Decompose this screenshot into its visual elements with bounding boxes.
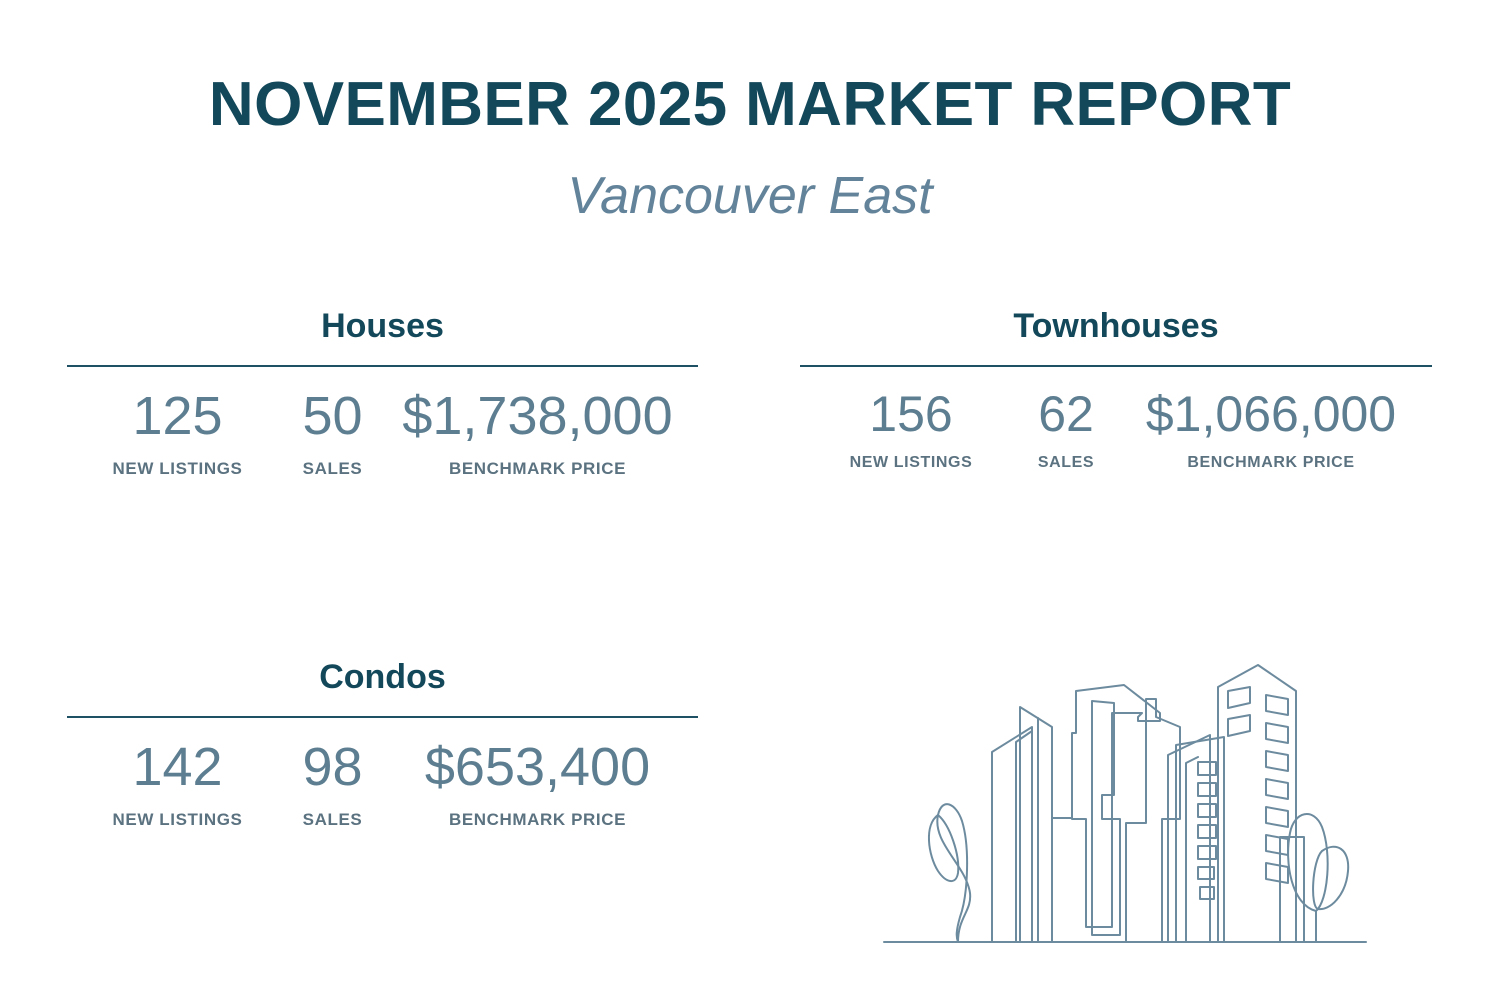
section-heading-townhouses: Townhouses (800, 306, 1432, 347)
metric-value-new-listings: 156 (869, 385, 952, 444)
building-b-outline (1020, 707, 1052, 942)
metric-value-benchmark-price: $1,738,000 (402, 385, 672, 449)
building-d-outline (1092, 701, 1120, 935)
building-h-windows-right (1266, 695, 1288, 883)
metric-value-benchmark-price: $653,400 (425, 736, 650, 800)
metric-label-benchmark-price: BENCHMARK PRICE (1187, 454, 1354, 472)
metric-value-sales: 98 (302, 736, 362, 800)
page-subtitle: Vancouver East (0, 168, 1500, 225)
building-g-windows (1198, 762, 1216, 899)
metric-label-benchmark-price: BENCHMARK PRICE (449, 810, 626, 830)
metric-sales: 50 SALES (278, 385, 388, 479)
building-i-outline (1280, 837, 1304, 942)
tree-right-leaf-large (1288, 814, 1328, 942)
metrics-row-houses: 125 NEW LISTINGS 50 SALES $1,738,000 BEN… (67, 385, 698, 479)
metric-new-listings: 156 NEW LISTINGS (811, 385, 1011, 472)
metric-label-new-listings: NEW LISTINGS (850, 454, 973, 472)
section-condos: Condos 142 NEW LISTINGS 98 SALES $653,40… (67, 657, 698, 830)
metric-new-listings: 142 NEW LISTINGS (78, 736, 278, 830)
tree-right-leaf-small (1313, 847, 1348, 909)
building-a-edge (1016, 731, 1032, 942)
metric-label-new-listings: NEW LISTINGS (113, 810, 243, 830)
metric-value-benchmark-price: $1,066,000 (1146, 385, 1396, 444)
section-divider-houses (67, 365, 698, 367)
metric-label-sales: SALES (303, 459, 363, 479)
section-townhouses: Townhouses 156 NEW LISTINGS 62 SALES $1,… (800, 306, 1432, 472)
section-divider-condos (67, 716, 698, 718)
metrics-row-townhouses: 156 NEW LISTINGS 62 SALES $1,066,000 BEN… (800, 385, 1432, 472)
building-c-outline (1052, 685, 1160, 927)
metric-label-benchmark-price: BENCHMARK PRICE (449, 459, 626, 479)
metrics-row-condos: 142 NEW LISTINGS 98 SALES $653,400 BENCH… (67, 736, 698, 830)
section-heading-houses: Houses (67, 306, 698, 347)
metric-label-sales: SALES (303, 810, 363, 830)
building-e-outline (1126, 699, 1180, 942)
metric-value-new-listings: 142 (132, 736, 222, 800)
metric-label-new-listings: NEW LISTINGS (113, 459, 243, 479)
metric-value-new-listings: 125 (132, 385, 222, 449)
section-houses: Houses 125 NEW LISTINGS 50 SALES $1,738,… (67, 306, 698, 479)
metric-value-sales: 62 (1038, 385, 1094, 444)
building-h-windows-left (1228, 687, 1250, 736)
metric-benchmark-price: $653,400 BENCHMARK PRICE (388, 736, 688, 830)
building-a-outline (992, 727, 1032, 942)
tree-left-leaf-inner (929, 815, 958, 881)
tree-left-leaf-outer (937, 804, 970, 942)
section-heading-condos: Condos (67, 657, 698, 698)
cityscape-icon (880, 655, 1370, 960)
building-h-outline (1218, 665, 1296, 942)
page-title: NOVEMBER 2025 MARKET REPORT (0, 72, 1500, 137)
metric-benchmark-price: $1,066,000 BENCHMARK PRICE (1121, 385, 1421, 472)
metric-benchmark-price: $1,738,000 BENCHMARK PRICE (388, 385, 688, 479)
metric-sales: 98 SALES (278, 736, 388, 830)
metric-label-sales: SALES (1038, 454, 1094, 472)
building-f-edge (1186, 757, 1198, 942)
cityscape-illustration (880, 655, 1370, 960)
section-divider-townhouses (800, 365, 1432, 367)
metric-sales: 62 SALES (1011, 385, 1121, 472)
metric-value-sales: 50 (302, 385, 362, 449)
report-canvas: NOVEMBER 2025 MARKET REPORT Vancouver Ea… (0, 0, 1500, 1000)
metric-new-listings: 125 NEW LISTINGS (78, 385, 278, 479)
